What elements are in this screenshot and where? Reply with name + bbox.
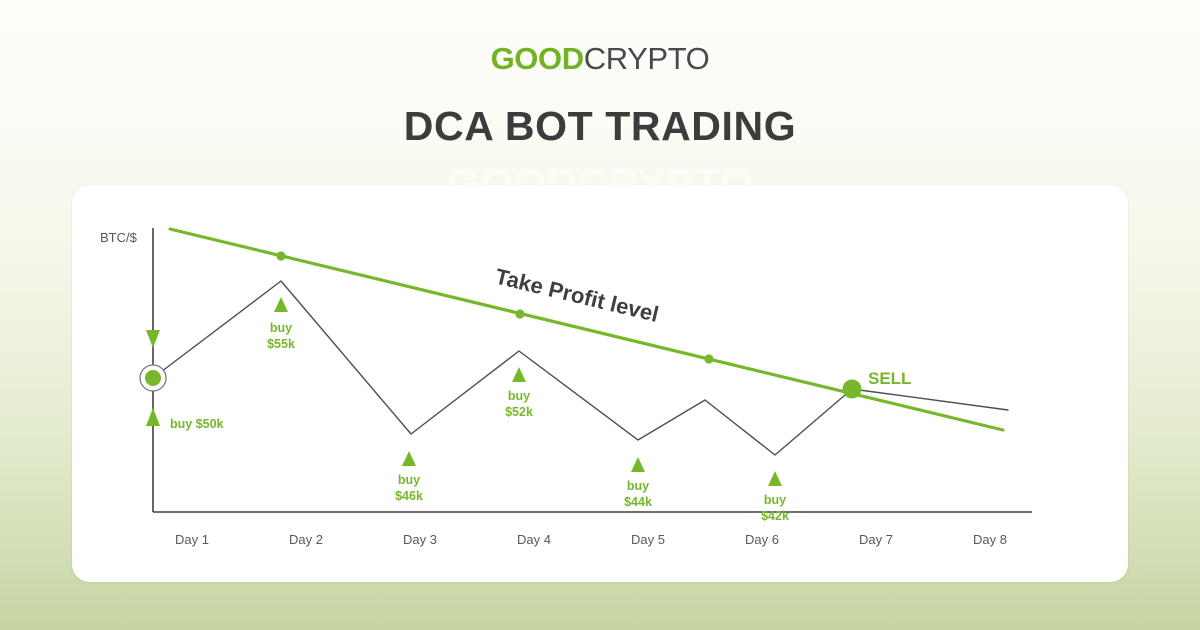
x-tick-day-8: Day 8 <box>973 532 1007 547</box>
x-tick-day-6: Day 6 <box>745 532 779 547</box>
entry-marker-dot <box>145 370 161 386</box>
take-profit-line <box>170 229 1003 430</box>
x-tick-day-3: Day 3 <box>403 532 437 547</box>
buy-label-day2-amount: $55k <box>267 337 295 351</box>
x-tick-day-5: Day 5 <box>631 532 665 547</box>
x-tick-day-4: Day 4 <box>517 532 551 547</box>
buy-triangle-day6 <box>768 471 782 486</box>
brand-logo: GOODCRYPTO <box>0 41 1200 77</box>
buy-label-day3-word: buy <box>398 473 420 487</box>
take-profit-dot-day4 <box>515 309 524 318</box>
x-tick-day-2: Day 2 <box>289 532 323 547</box>
brand-logo-good: GOOD <box>491 41 584 76</box>
buy-label-day6-amount: $42k <box>761 509 789 523</box>
buy-label-day4-amount: $52k <box>505 405 533 419</box>
x-tick-day-7: Day 7 <box>859 532 893 547</box>
brand-logo-crypto: CRYPTO <box>584 41 710 76</box>
buy-triangle-day4 <box>512 367 526 382</box>
entry-down-arrow <box>146 330 160 348</box>
buy-label-day5-amount: $44k <box>624 495 652 509</box>
y-axis-label: BTC/$ <box>100 230 138 245</box>
buy-label-day3-amount: $46k <box>395 489 423 503</box>
buy-label-day5-word: buy <box>627 479 649 493</box>
chart-canvas: BTC/$ Day 1 Day 2 Day 3 Day 4 Day 5 Day … <box>72 185 1128 582</box>
buy-label-day6-word: buy <box>764 493 786 507</box>
entry-up-arrow <box>146 408 160 426</box>
take-profit-dot-day2 <box>276 251 285 260</box>
entry-buy-label: buy $50k <box>170 417 224 431</box>
chart-card: BTC/$ Day 1 Day 2 Day 3 Day 4 Day 5 Day … <box>72 185 1128 582</box>
sell-label: SELL <box>868 369 911 388</box>
buy-triangle-day5 <box>631 457 645 472</box>
buy-label-day4-word: buy <box>508 389 530 403</box>
sell-marker-dot <box>843 380 862 399</box>
take-profit-dot-day6 <box>704 354 713 363</box>
x-tick-day-1: Day 1 <box>175 532 209 547</box>
buy-triangle-day3 <box>402 451 416 466</box>
buy-label-day2-word: buy <box>270 321 292 335</box>
page-title: DCA BOT TRADING <box>0 103 1200 150</box>
buy-triangle-day2 <box>274 297 288 312</box>
